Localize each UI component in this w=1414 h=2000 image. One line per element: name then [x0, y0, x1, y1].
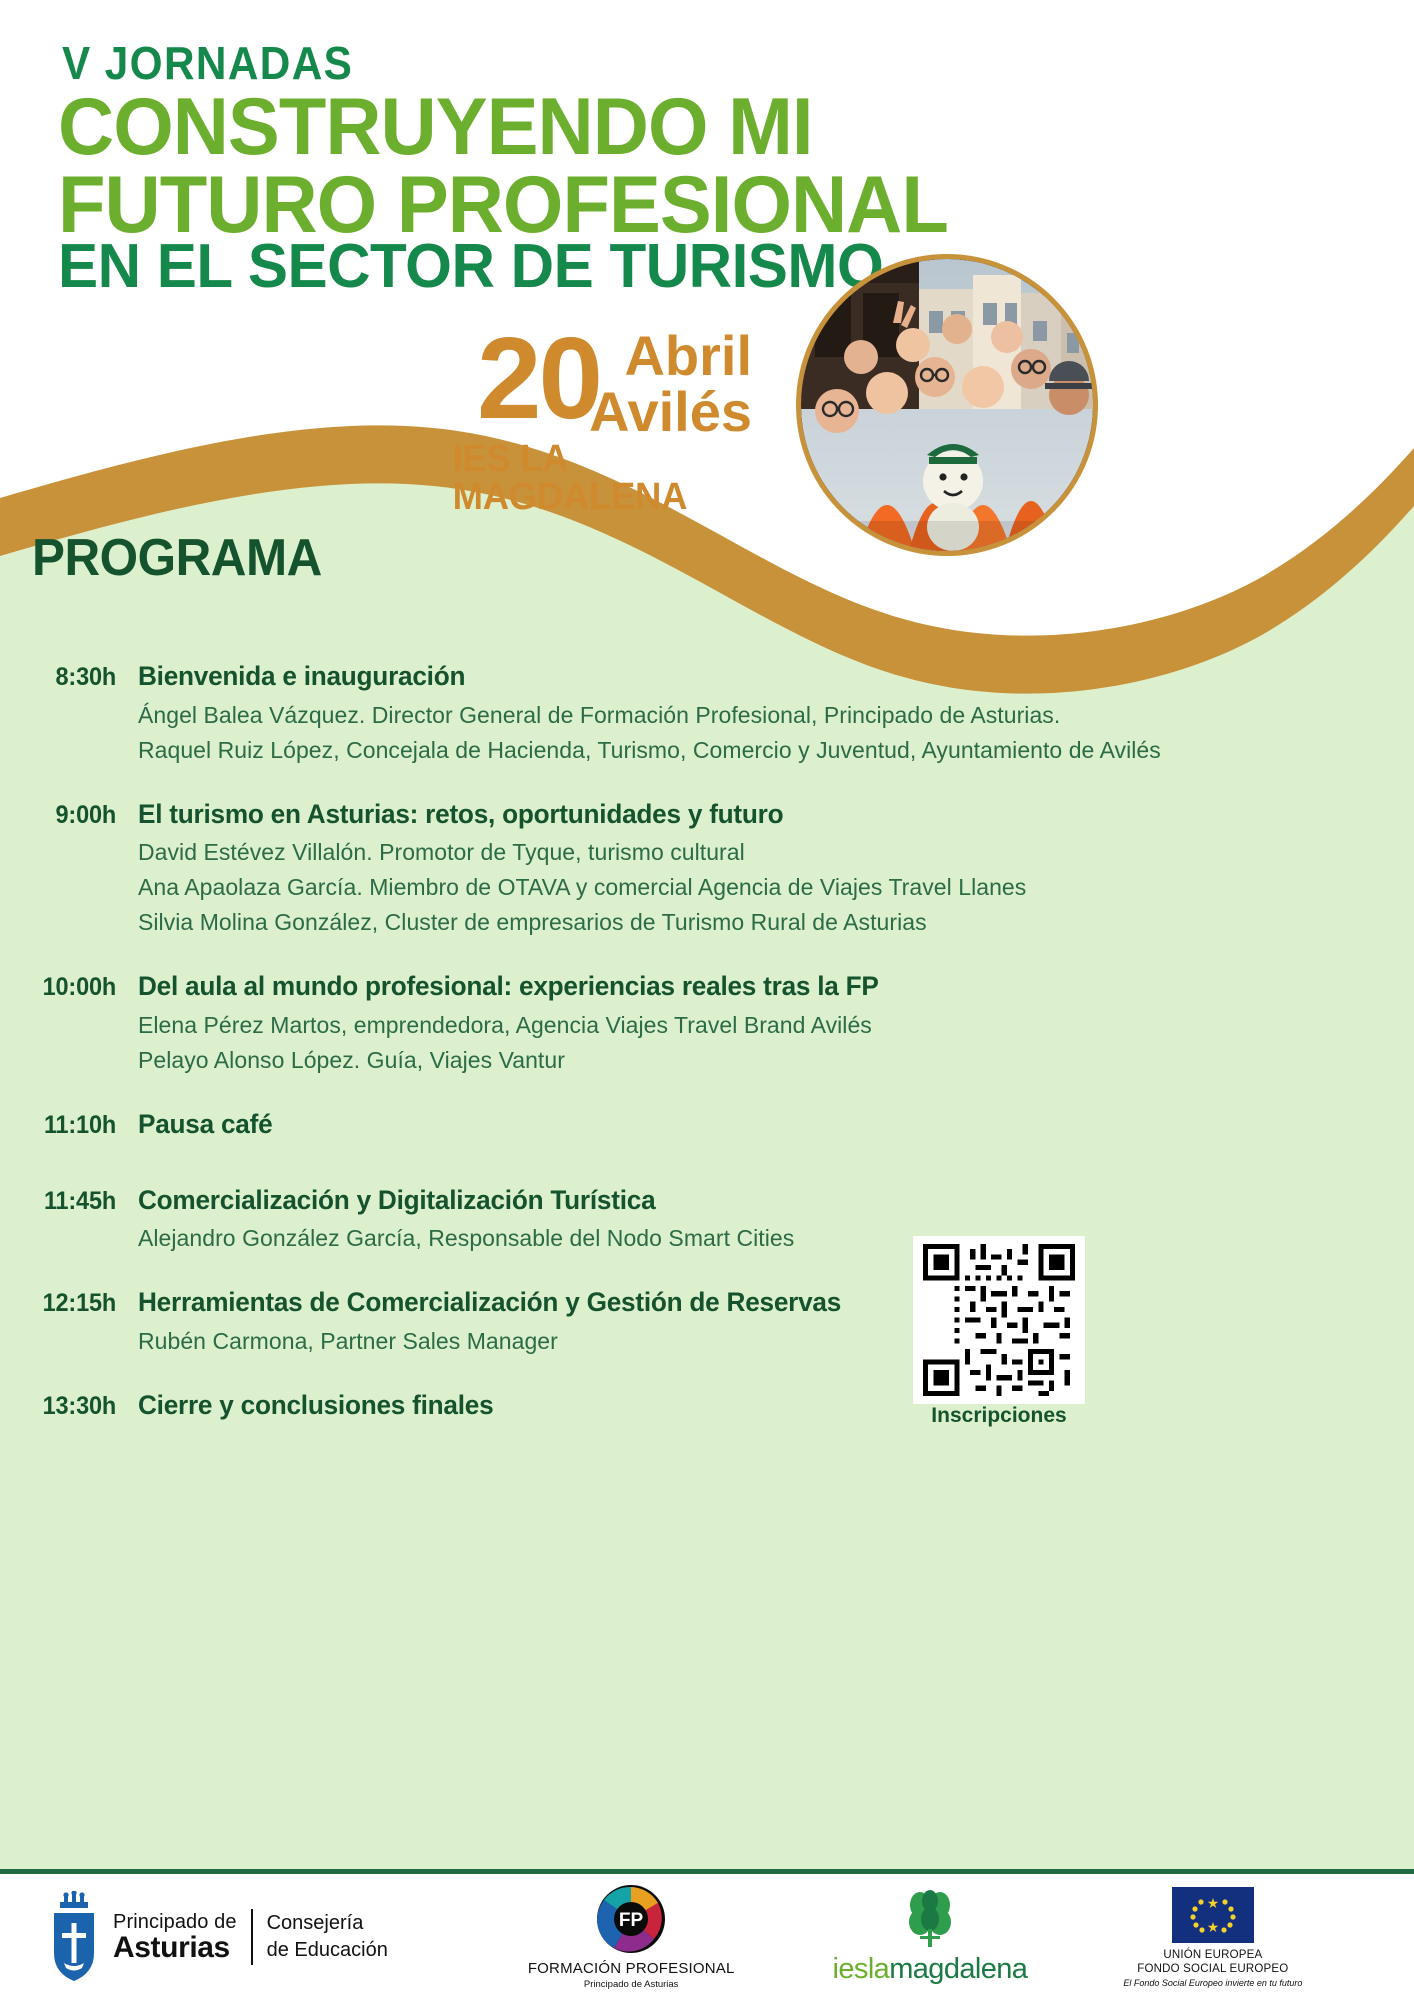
schedule-row: 11:10hPausa café — [0, 1108, 1414, 1142]
logo-ies-la-magdalena: ieslamagdalena — [833, 1889, 1028, 1986]
schedule-entry: Cierre y conclusiones finales — [116, 1389, 504, 1423]
qr-code-icon — [921, 1244, 1077, 1396]
schedule-speaker: Ana Apaolaza García. Miembro de OTAVA y … — [138, 870, 1026, 905]
qr-code[interactable] — [913, 1236, 1085, 1404]
tree-icon — [898, 1889, 962, 1951]
schedule-entry-title: Cierre y conclusiones finales — [138, 1389, 493, 1423]
consejeria-line-1: Consejería — [267, 1912, 388, 1935]
schedule-entry-title: El turismo en Asturias: retos, oportunid… — [138, 798, 1000, 832]
schedule-entry-title: Del aula al mundo profesional: experienc… — [138, 970, 879, 1004]
schedule-speaker: Silvia Molina González, Cluster de empre… — [138, 905, 1026, 940]
group-photo-image — [801, 259, 1093, 551]
consejeria-wordmark: Consejería de Educación — [267, 1912, 388, 1962]
schedule-time: 13:30h — [7, 1389, 116, 1423]
schedule-speaker: Pelayo Alonso López. Guía, Viajes Vantur — [138, 1043, 902, 1078]
ies-wordmark-part-a: iesla — [833, 1953, 890, 1985]
schedule-entry: Del aula al mundo profesional: experienc… — [116, 970, 902, 1078]
logo-principado-asturias: Principado de Asturias Consejería de Edu… — [46, 1891, 388, 1983]
fp-line-2: Principado de Asturias — [584, 1979, 679, 1990]
schedule-row: 11:45hComercialización y Digitalización … — [0, 1184, 1414, 1257]
svg-text:FP: FP — [619, 1910, 644, 1931]
schedule-entry: Comercialización y Digitalización Turíst… — [116, 1184, 794, 1257]
schedule-entry-speakers: David Estévez Villalón. Promotor de Tyqu… — [138, 835, 1026, 940]
asturias-line-2: Asturias — [113, 1933, 237, 1963]
schedule-entry: El turismo en Asturias: retos, oportunid… — [116, 798, 1026, 941]
schedule-entry-title: Pausa café — [138, 1108, 272, 1142]
logo-formacion-profesional: FP FORMACIÓN PROFESIONAL Principado de A… — [528, 1884, 735, 1990]
schedule-time: 11:45h — [7, 1184, 116, 1257]
schedule-entry-title: Bienvenida e inauguración — [138, 660, 1130, 694]
ies-wordmark-part-b: magdalena — [889, 1953, 1027, 1985]
schedule-entry: Pausa café — [116, 1108, 277, 1142]
schedule-row: 13:30hCierre y conclusiones finales — [0, 1389, 1414, 1423]
ue-line-3: El Fondo Social Europeo invierte en tu f… — [1123, 1978, 1302, 1988]
schedule-row: 8:30hBienvenida e inauguraciónÁngel Bale… — [0, 660, 1414, 768]
schedule-time: 10:00h — [7, 970, 116, 1078]
consejeria-line-2: de Educación — [267, 1939, 388, 1962]
schedule-entry-title: Herramientas de Comercialización y Gesti… — [138, 1286, 841, 1320]
schedule-speaker: Ángel Balea Vázquez. Director General de… — [138, 698, 1161, 733]
schedule-entry-title: Comercialización y Digitalización Turíst… — [138, 1184, 775, 1218]
asturias-wordmark: Principado de Asturias — [113, 1912, 237, 1963]
schedule-speaker: Raquel Ruiz López, Concejala de Hacienda… — [138, 733, 1161, 768]
poster-root: V JORNADAS CONSTRUYENDO MI FUTURO PROFES… — [0, 0, 1414, 2000]
schedule-entry-speakers: Alejandro González García, Responsable d… — [138, 1221, 794, 1256]
qr-code-label: Inscripciones — [913, 1404, 1085, 1428]
schedule-time: 9:00h — [7, 798, 116, 941]
event-day: 20 — [477, 320, 600, 436]
schedule-entry: Bienvenida e inauguraciónÁngel Balea Váz… — [116, 660, 1161, 768]
ue-line-1: UNIÓN EUROPEA — [1163, 1949, 1262, 1961]
schedule-list: 8:30hBienvenida e inauguraciónÁngel Bale… — [0, 660, 1414, 1465]
schedule-row: 10:00hDel aula al mundo profesional: exp… — [0, 970, 1414, 1078]
schedule-row: 9:00hEl turismo en Asturias: retos, opor… — [0, 798, 1414, 941]
event-venue: IES LA MAGDALENA — [453, 440, 756, 516]
title-line-1: CONSTRUYENDO MI — [58, 90, 813, 165]
schedule-speaker: Alejandro González García, Responsable d… — [138, 1221, 794, 1256]
schedule-entry-speakers: Ángel Balea Vázquez. Director General de… — [138, 698, 1161, 768]
event-city: Avilés — [589, 384, 752, 440]
schedule-speaker: Elena Pérez Martos, emprendedora, Agenci… — [138, 1008, 902, 1043]
asturias-line-1: Principado de — [113, 1912, 237, 1932]
schedule-time: 8:30h — [7, 660, 116, 768]
schedule-row: 12:15hHerramientas de Comercialización y… — [0, 1286, 1414, 1359]
asturias-divider — [251, 1909, 253, 1965]
asturias-shield-icon — [46, 1891, 102, 1983]
ue-line-2: FONDO SOCIAL EUROPEO — [1137, 1963, 1288, 1975]
logo-union-europea: UNIÓN EUROPEA FONDO SOCIAL EUROPEO El Fo… — [1123, 1887, 1302, 1988]
schedule-entry-speakers: Elena Pérez Martos, emprendedora, Agenci… — [138, 1008, 902, 1078]
page-title: PROGRAMA — [32, 528, 322, 588]
schedule-entry: Herramientas de Comercialización y Gesti… — [116, 1286, 863, 1359]
title-line-3: EN EL SECTOR DE TURISMO — [58, 238, 883, 297]
eu-flag-icon — [1172, 1887, 1254, 1943]
fp-badge-icon: FP — [596, 1884, 666, 1954]
schedule-speaker: Rubén Carmona, Partner Sales Manager — [138, 1324, 863, 1359]
event-month: Abril — [624, 328, 752, 384]
ies-wordmark: ieslamagdalena — [833, 1953, 1028, 1986]
event-date-block: 20 Abril Avilés IES LA MAGDALENA — [440, 318, 770, 478]
fp-line-1: FORMACIÓN PROFESIONAL — [528, 1960, 735, 1977]
schedule-time: 11:10h — [7, 1108, 116, 1142]
schedule-speaker: David Estévez Villalón. Promotor de Tyqu… — [138, 835, 1026, 870]
footer-logos: Principado de Asturias Consejería de Edu… — [0, 1874, 1414, 2000]
group-photo — [796, 254, 1098, 556]
schedule-entry-speakers: Rubén Carmona, Partner Sales Manager — [138, 1324, 863, 1359]
schedule-time: 12:15h — [7, 1286, 116, 1359]
